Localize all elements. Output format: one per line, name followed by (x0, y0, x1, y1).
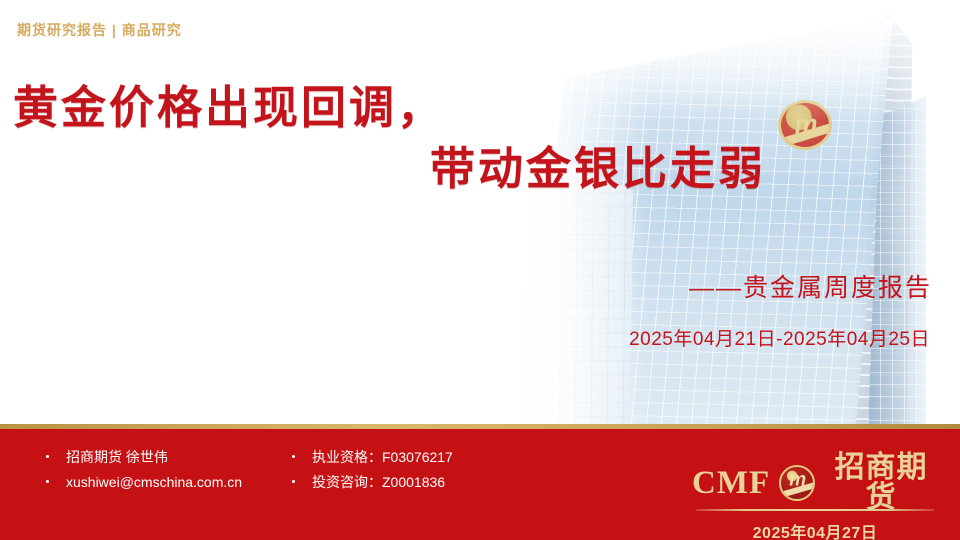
company-logo: CMF m 招商期货 2025年04月27日 (692, 463, 938, 540)
logo-company-name: 招商期货 (824, 453, 938, 513)
report-date-range: 2025年04月21日-2025年04月25日 (629, 324, 930, 351)
title-line-2: 带动金银比走弱 (0, 139, 790, 200)
publish-date: 2025年04月27日 (692, 519, 938, 540)
bullet-icon (292, 455, 295, 458)
bullet-icon (46, 455, 49, 458)
analyst-email[interactable]: xushiwei@cmschina.com.cn (66, 470, 242, 495)
list-item: 投资咨询：Z0001836 (292, 470, 453, 495)
cover-building-photo: m (470, 0, 960, 432)
footer-band: 招商期货 徐世伟 xushiwei@cmschina.com.cn 执业资格：F… (0, 429, 960, 540)
practice-license: 执业资格：F03076217 (312, 445, 453, 470)
report-category-kicker: 期货研究报告 | 商品研究 (17, 20, 182, 40)
bullet-icon (292, 480, 295, 483)
list-item[interactable]: xushiwei@cmschina.com.cn (46, 470, 242, 495)
bullet-icon (46, 480, 49, 483)
contact-column-left: 招商期货 徐世伟 xushiwei@cmschina.com.cn (46, 445, 242, 495)
list-item: 执业资格：F03076217 (292, 445, 453, 470)
title-line-1: 黄金价格出现回调， (0, 78, 790, 139)
report-cover-slide: 期货研究报告 | 商品研究 m 黄金价格出现回调， 带动金银比走弱 ——贵金属周… (0, 0, 960, 540)
report-subtitle: ——贵金属周度报告 (689, 268, 932, 304)
consulting-license: 投资咨询：Z0001836 (312, 470, 445, 495)
analyst-name: 招商期货 徐世伟 (66, 445, 168, 470)
cms-emblem-icon: m (779, 465, 815, 501)
contact-column-right: 执业资格：F03076217 投资咨询：Z0001836 (292, 445, 453, 495)
logo-row: CMF m 招商期货 (692, 463, 938, 503)
list-item: 招商期货 徐世伟 (46, 445, 242, 470)
logo-abbr: CMF (692, 467, 770, 500)
page-title: 黄金价格出现回调， 带动金银比走弱 (0, 78, 790, 200)
